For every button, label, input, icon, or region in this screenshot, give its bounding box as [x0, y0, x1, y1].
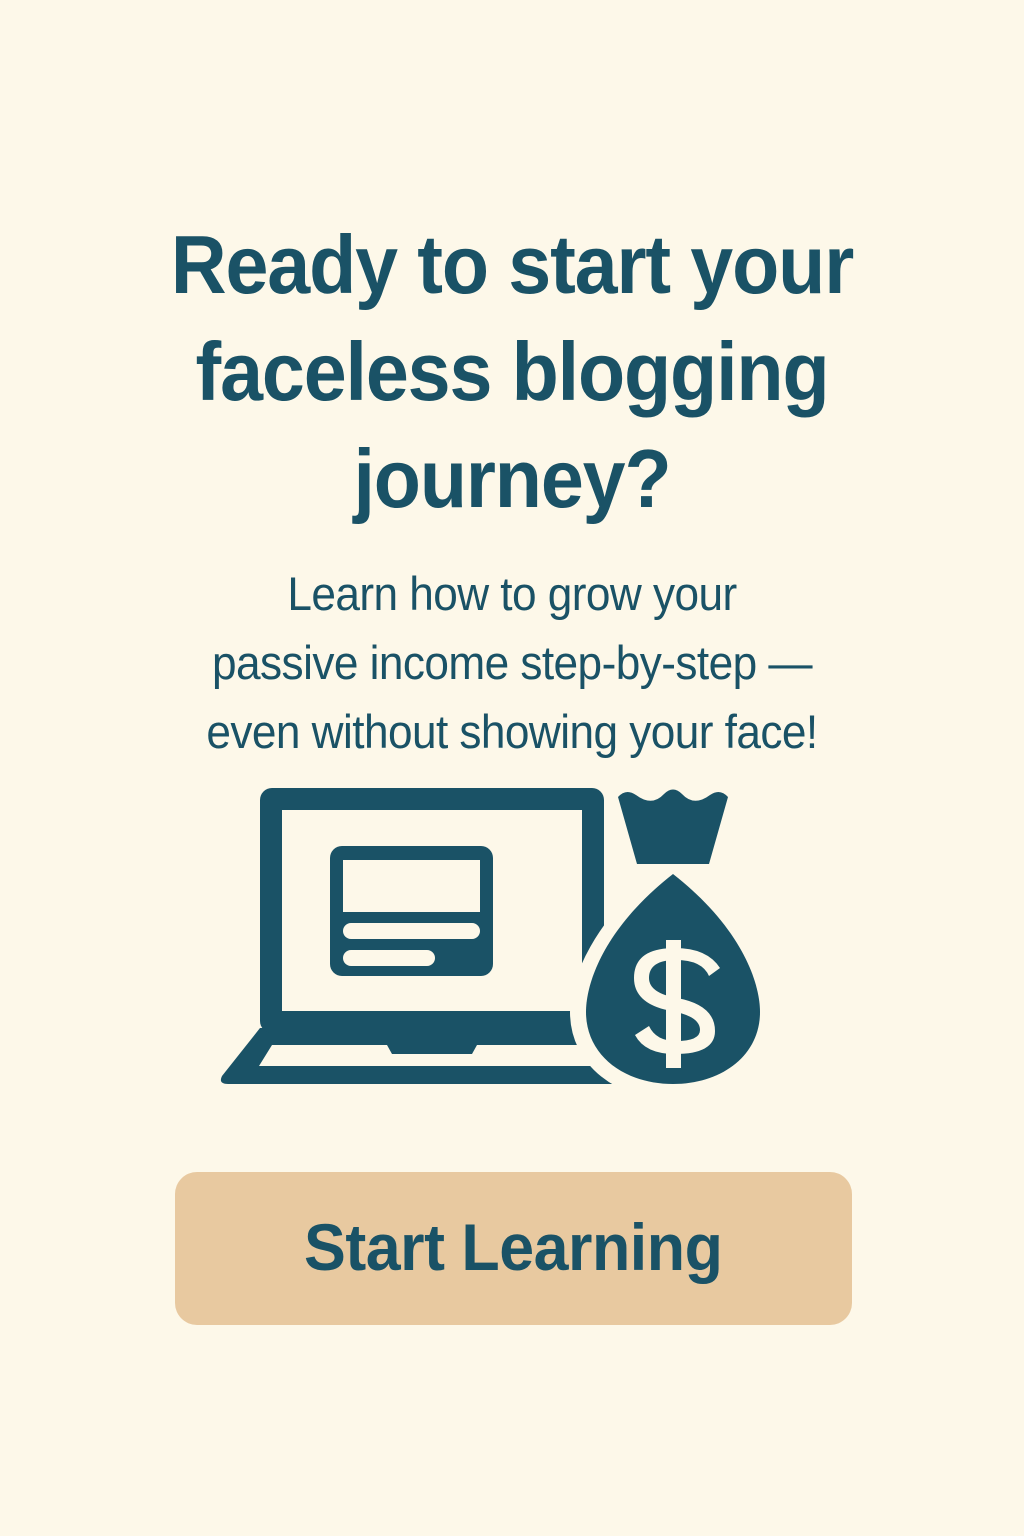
- start-learning-button-label: Start Learning: [304, 1214, 722, 1280]
- page-subtitle: Learn how to grow your passive income st…: [31, 559, 994, 766]
- money-bag-icon: [580, 790, 766, 1091]
- subtitle-line-2: passive income step-by-step —: [31, 628, 994, 697]
- headline-line-1: Ready to start your: [36, 211, 988, 318]
- headline-line-2: faceless blogging: [36, 318, 988, 425]
- page-title: Ready to start your faceless blogging jo…: [36, 211, 988, 532]
- subtitle-line-3: even without showing your face!: [31, 697, 994, 766]
- laptop-money-bag-illustration: [212, 778, 812, 1098]
- subtitle-line-1: Learn how to grow your: [31, 559, 994, 628]
- headline-line-3: journey?: [36, 425, 988, 532]
- pinterest-cta-pin: Ready to start your faceless blogging jo…: [0, 0, 1024, 1536]
- article-card-icon: [330, 846, 493, 976]
- start-learning-button[interactable]: Start Learning: [175, 1172, 852, 1325]
